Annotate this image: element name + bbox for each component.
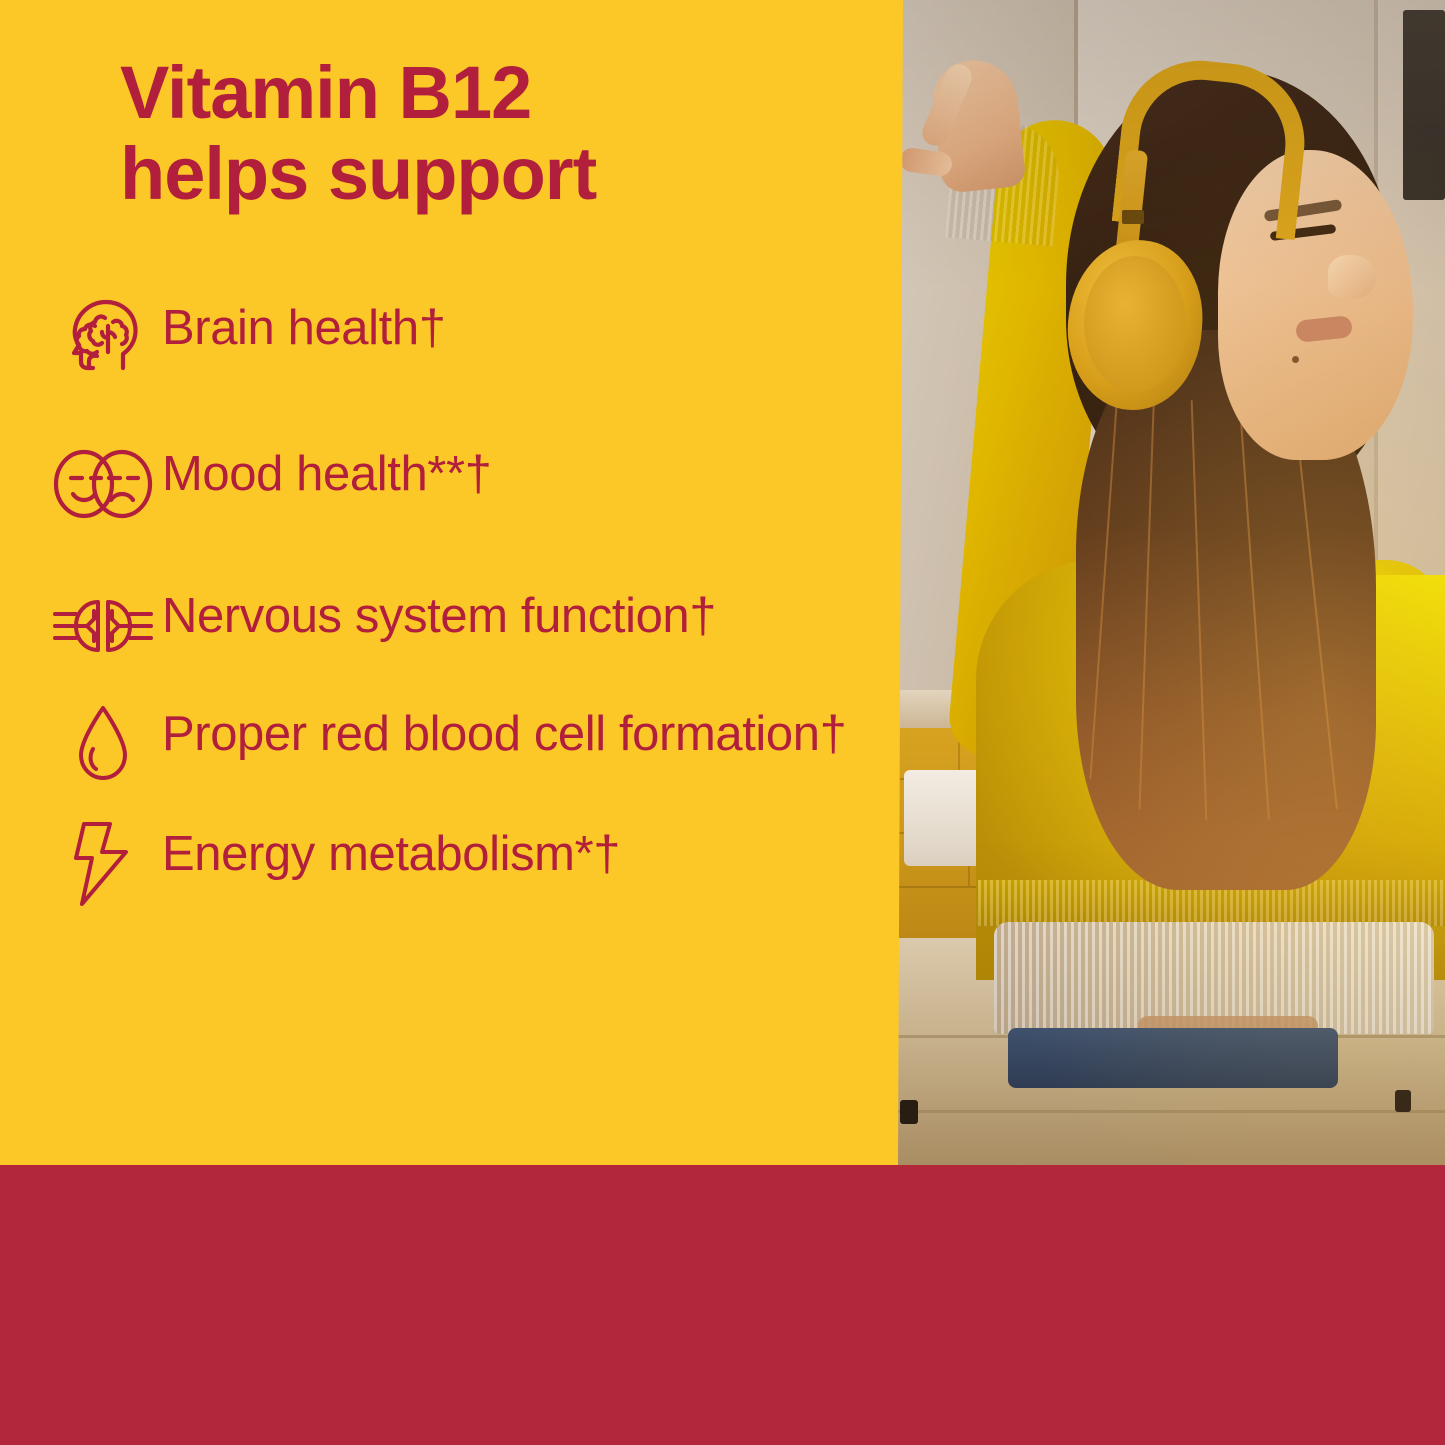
- mood-masks-icon: [44, 442, 162, 526]
- benefit-item-energy-metabolism: Energy metabolism*†: [44, 822, 904, 906]
- benefit-label: Proper red blood cell formation†: [162, 702, 846, 763]
- benefit-item-brain-health: Brain health†: [44, 296, 904, 380]
- benefits-list: Brain health† Mood health**†: [44, 296, 904, 906]
- nerve-system-icon: [44, 584, 162, 668]
- yellow-content-panel: Vitamin B12 helps support: [0, 0, 903, 1165]
- benefit-label: Energy metabolism*†: [162, 822, 620, 883]
- page-title: Vitamin B12 helps support: [120, 52, 860, 215]
- benefit-label: Nervous system function†: [162, 584, 716, 645]
- benefit-label: Mood health**†: [162, 442, 491, 503]
- brain-head-icon: [44, 296, 162, 380]
- blood-drop-icon: [44, 702, 162, 786]
- lifestyle-photo: [898, 0, 1445, 1165]
- headline-line-1: Vitamin B12: [120, 52, 860, 133]
- benefit-label: Brain health†: [162, 296, 446, 357]
- benefit-item-mood-health: Mood health**†: [44, 442, 904, 526]
- benefit-item-nervous-system: Nervous system function†: [44, 584, 904, 668]
- footer-disclaimer-bar: *Helps convert food into cellular energy…: [0, 1165, 1445, 1445]
- vignette-overlay: [898, 0, 1445, 1165]
- lightning-bolt-icon: [44, 822, 162, 906]
- benefit-item-red-blood-cell: Proper red blood cell formation†: [44, 702, 904, 786]
- headline-line-2: helps support: [120, 133, 860, 214]
- promo-image-canvas: Vitamin B12 helps support: [0, 0, 1445, 1445]
